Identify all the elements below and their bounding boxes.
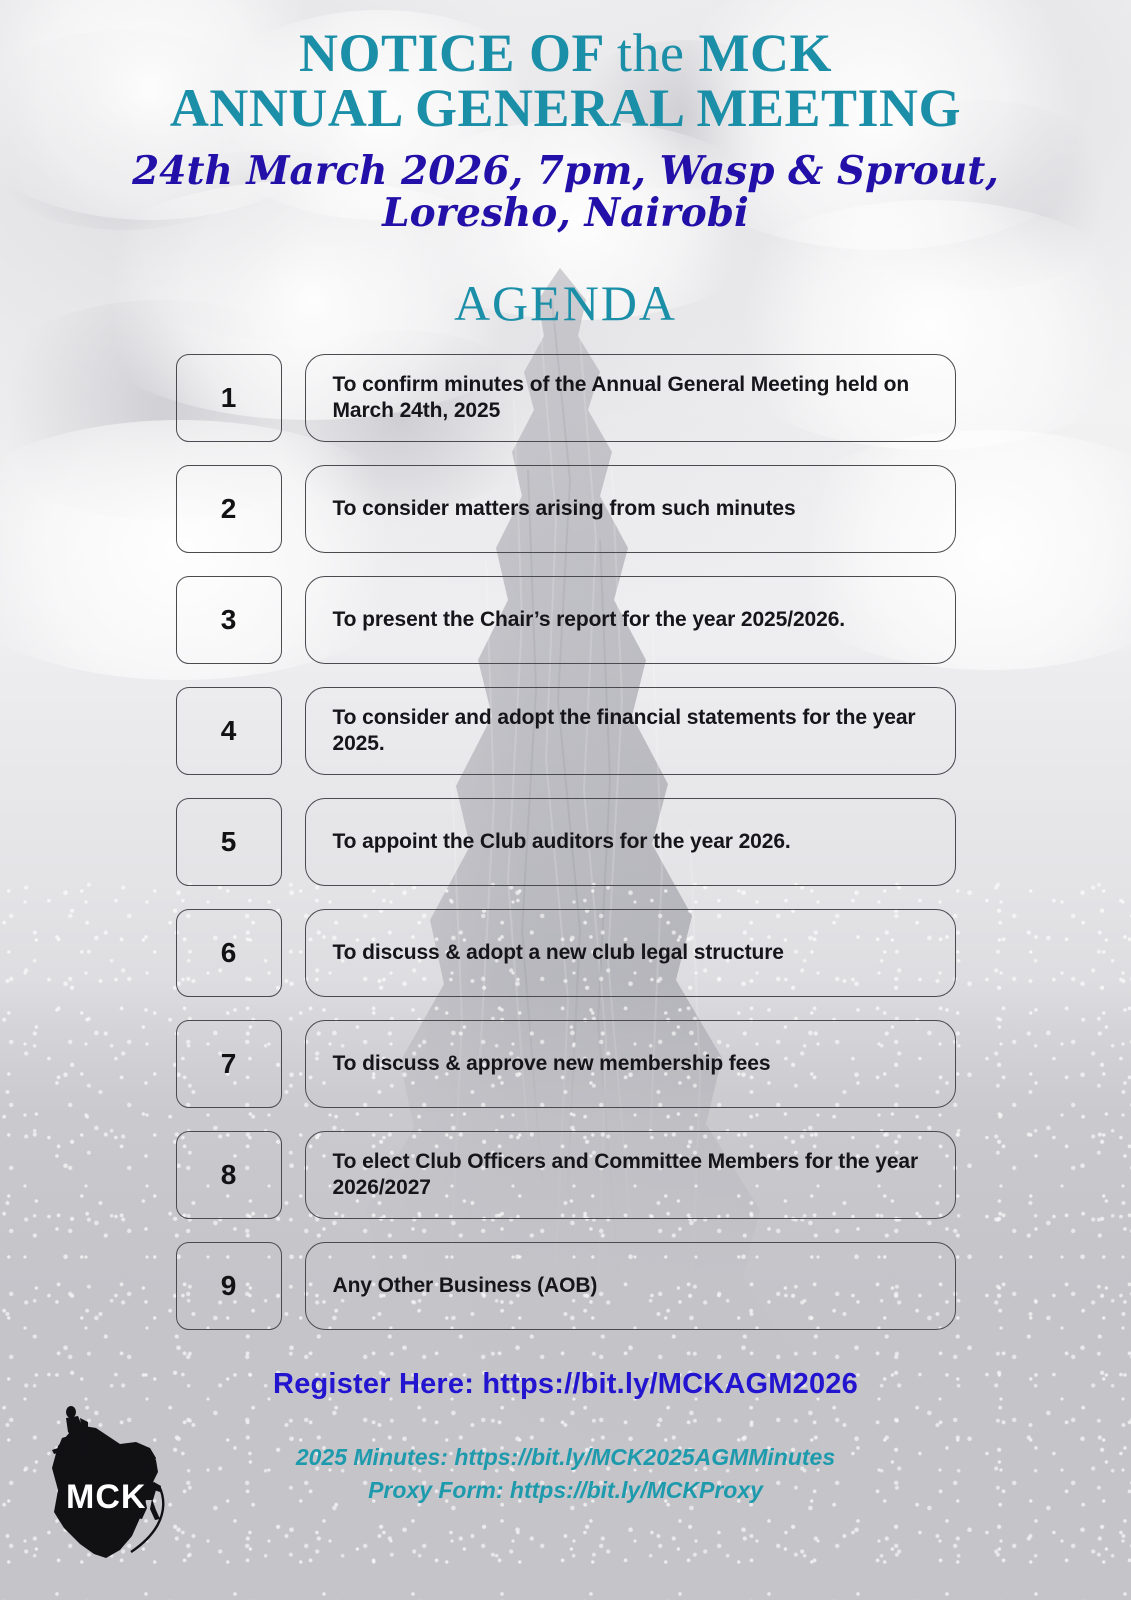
title-part-the: the <box>617 23 684 83</box>
agenda-item-text: To discuss & adopt a new club legal stru… <box>333 940 784 967</box>
agenda-item-number: 3 <box>176 576 282 664</box>
agenda-item-number: 1 <box>176 354 282 442</box>
agenda-list: 1 To confirm minutes of the Annual Gener… <box>176 354 956 1330</box>
agenda-item: 6 To discuss & adopt a new club legal st… <box>176 909 956 997</box>
agenda-item-text-box: To elect Club Officers and Committee Mem… <box>305 1131 956 1219</box>
agenda-item-text-box: To present the Chair’s report for the ye… <box>305 576 956 664</box>
title-part-mck: MCK <box>685 23 832 83</box>
agenda-item: 4 To consider and adopt the financial st… <box>176 687 956 775</box>
agenda-item-text: To elect Club Officers and Committee Mem… <box>333 1149 931 1203</box>
agenda-item: 1 To confirm minutes of the Annual Gener… <box>176 354 956 442</box>
agenda-item-number: 6 <box>176 909 282 997</box>
agenda-item-text-box: To consider matters arising from such mi… <box>305 465 956 553</box>
agm-notice-poster: NOTICE OF the MCK ANNUAL GENERAL MEETING… <box>0 0 1131 1600</box>
agenda-item: 9 Any Other Business (AOB) <box>176 1242 956 1330</box>
poster-header: NOTICE OF the MCK ANNUAL GENERAL MEETING… <box>0 0 1131 332</box>
page-title-line-1: NOTICE OF the MCK <box>0 26 1131 81</box>
agenda-item-text: To confirm minutes of the Annual General… <box>333 372 931 426</box>
agenda-item: 8 To elect Club Officers and Committee M… <box>176 1131 956 1219</box>
agenda-item-text-box: To discuss & approve new membership fees <box>305 1020 956 1108</box>
agenda-item: 7 To discuss & approve new membership fe… <box>176 1020 956 1108</box>
agenda-item-number: 4 <box>176 687 282 775</box>
mck-logo: MCK <box>28 1372 178 1572</box>
meeting-details: 24th March 2026, 7pm, Wasp & Sprout, Lor… <box>0 150 1131 234</box>
agenda-item-text: To discuss & approve new membership fees <box>333 1051 771 1078</box>
agenda-item-number: 5 <box>176 798 282 886</box>
page-title-line-2: ANNUAL GENERAL MEETING <box>0 81 1131 136</box>
agenda-item-text: Any Other Business (AOB) <box>333 1273 598 1300</box>
agenda-item-number: 9 <box>176 1242 282 1330</box>
agenda-item: 5 To appoint the Club auditors for the y… <box>176 798 956 886</box>
agenda-item-number: 7 <box>176 1020 282 1108</box>
agenda-item-text: To present the Chair’s report for the ye… <box>333 607 846 634</box>
agenda-item-text-box: To consider and adopt the financial stat… <box>305 687 956 775</box>
agenda-heading: AGENDA <box>0 274 1131 332</box>
agenda-item-text-box: To discuss & adopt a new club legal stru… <box>305 909 956 997</box>
title-part-notice-of: NOTICE OF <box>299 23 617 83</box>
agenda-item-text-box: To appoint the Club auditors for the yea… <box>305 798 956 886</box>
agenda-item: 2 To consider matters arising from such … <box>176 465 956 553</box>
agenda-item: 3 To present the Chair’s report for the … <box>176 576 956 664</box>
agenda-item-text: To consider matters arising from such mi… <box>333 496 796 523</box>
agenda-item-text: To appoint the Club auditors for the yea… <box>333 829 791 856</box>
agenda-item-number: 2 <box>176 465 282 553</box>
logo-text: MCK <box>66 1478 146 1516</box>
agenda-item-number: 8 <box>176 1131 282 1219</box>
agenda-item-text: To consider and adopt the financial stat… <box>333 705 931 759</box>
agenda-item-text-box: Any Other Business (AOB) <box>305 1242 956 1330</box>
agenda-item-text-box: To confirm minutes of the Annual General… <box>305 354 956 442</box>
